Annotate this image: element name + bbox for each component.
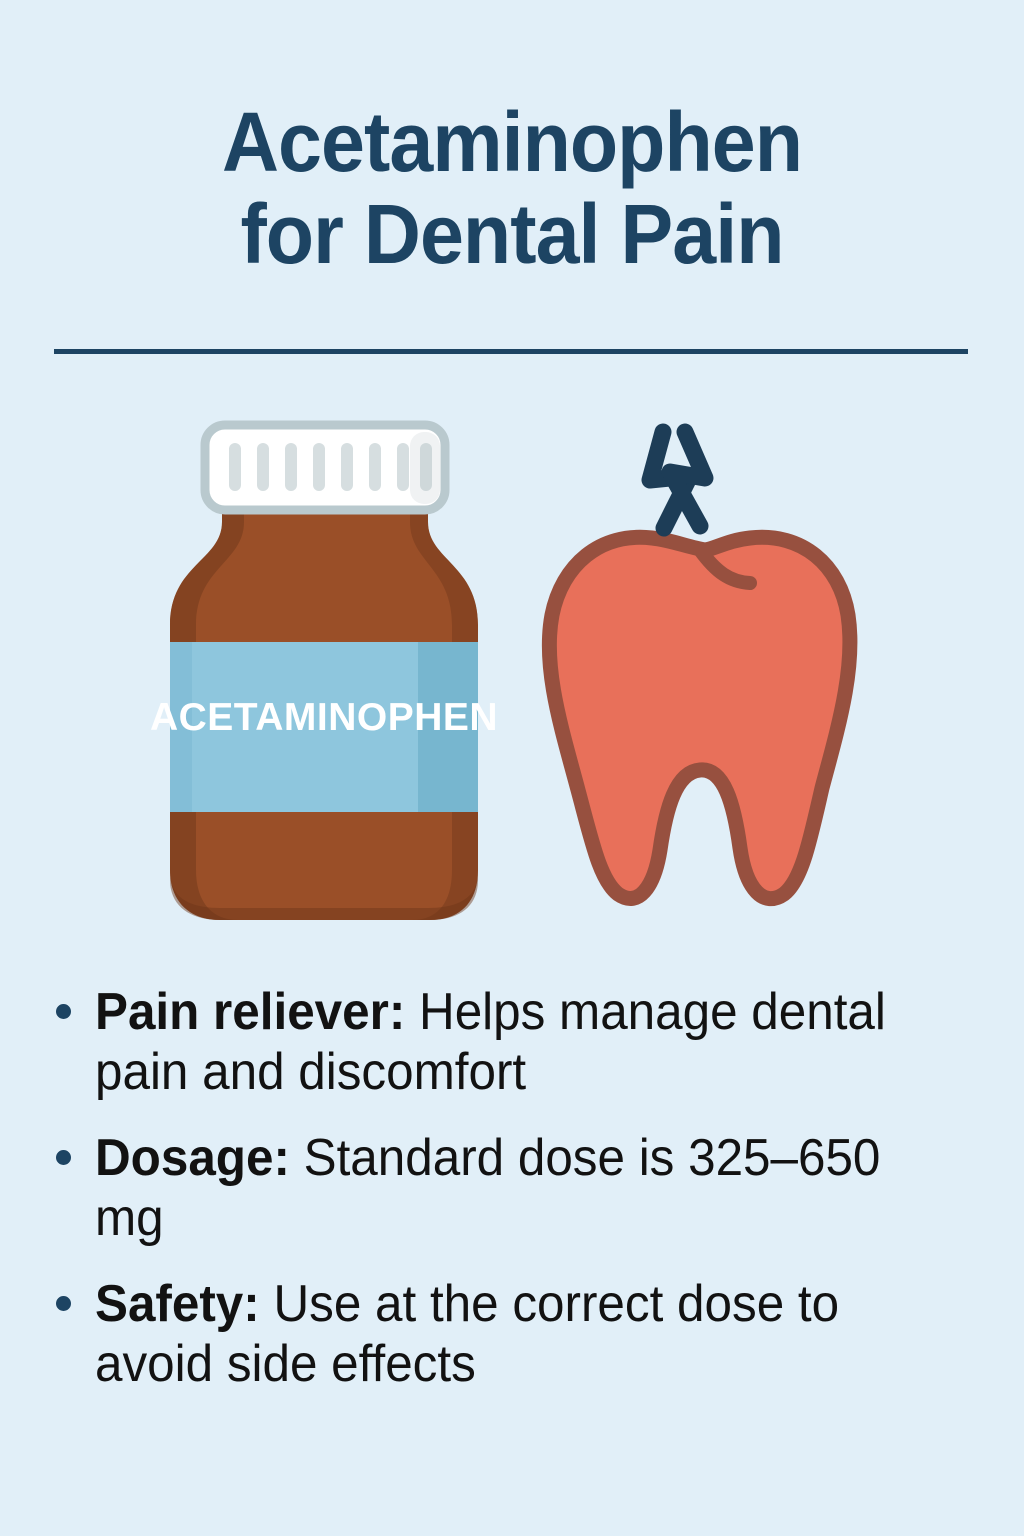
- bullet-text: Dosage: Standard dose is 325–650 mg: [95, 1128, 912, 1248]
- tooth-illustration: [549, 432, 850, 899]
- pill-bottle-illustration: ACETAMINOPHEN: [150, 425, 498, 920]
- header-divider: [54, 349, 968, 354]
- illustration-group: ACETAMINOPHEN: [0, 410, 1024, 940]
- bullet-lead: Pain reliever:: [95, 983, 405, 1041]
- illustration-svg: ACETAMINOPHEN: [0, 410, 1024, 940]
- list-item: Safety: Use at the correct dose to avoid…: [56, 1274, 976, 1394]
- bullet-lead: Safety:: [95, 1275, 260, 1333]
- bottle-label-text: ACETAMINOPHEN: [150, 696, 498, 739]
- list-item: Dosage: Standard dose is 325–650 mg: [56, 1128, 976, 1248]
- bullet-dot-icon: [56, 1150, 71, 1165]
- tooth-body: [549, 537, 850, 898]
- list-item: Pain reliever: Helps manage dental pain …: [56, 982, 976, 1102]
- bullet-text: Safety: Use at the correct dose to avoid…: [95, 1274, 912, 1394]
- bullet-text: Pain reliever: Helps manage dental pain …: [95, 982, 912, 1102]
- infographic-poster: Acetaminophen for Dental Pain: [0, 0, 1024, 1536]
- title-line-2: for Dental Pain: [31, 188, 994, 280]
- page-title: Acetaminophen for Dental Pain: [0, 96, 1024, 280]
- bullet-list: Pain reliever: Helps manage dental pain …: [56, 982, 976, 1420]
- title-line-1: Acetaminophen: [31, 96, 994, 188]
- bullet-lead: Dosage:: [95, 1129, 290, 1187]
- bullet-dot-icon: [56, 1004, 71, 1019]
- bullet-dot-icon: [56, 1296, 71, 1311]
